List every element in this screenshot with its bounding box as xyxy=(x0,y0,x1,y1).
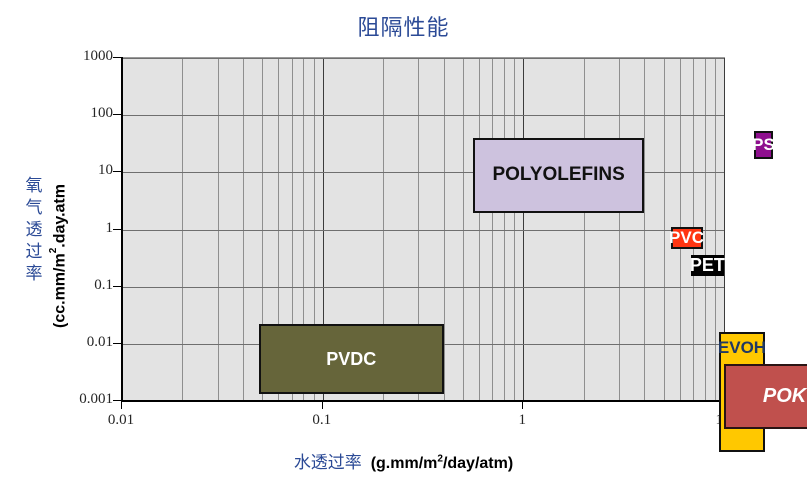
y-tick-mark xyxy=(113,343,122,344)
plot-area: PVDCPOLYOLEFINSPVCPETPSPA6EVOHPOK xyxy=(121,57,725,402)
y-tick-label: 1000 xyxy=(53,48,113,65)
data-box-pvdc: PVDC xyxy=(259,324,444,394)
gridline-horizontal xyxy=(122,58,724,59)
gridline-horizontal xyxy=(122,230,724,231)
data-box-ps: PS xyxy=(754,131,774,159)
data-box-label: PS xyxy=(752,135,775,155)
y-axis-title-char: 过 xyxy=(22,241,46,263)
x-axis-title-en-tail: /day/atm) xyxy=(443,455,513,472)
y-tick-mark xyxy=(113,114,122,115)
data-box-pet: PET xyxy=(691,255,725,276)
barrier-performance-chart: 阻隔性能 PVDCPOLYOLEFINSPVCPETPSPA6EVOHPOK 1… xyxy=(0,0,807,488)
x-axis-title-en-text: (g.mm/m xyxy=(371,455,438,472)
x-axis-title-cn: 水透过率 xyxy=(294,453,362,473)
data-box-label: PET xyxy=(690,255,725,276)
y-tick-mark xyxy=(113,229,122,230)
y-axis-title-en-text: (cc.mm/m xyxy=(51,253,68,328)
x-tick-label: 0.01 xyxy=(91,412,151,429)
data-box-label: EVOH xyxy=(718,338,766,358)
gridline-horizontal xyxy=(122,287,724,288)
y-tick-mark xyxy=(113,171,122,172)
data-box-label: PVC xyxy=(669,228,704,248)
x-axis-title: 水透过率 (g.mm/m2/day/atm) xyxy=(0,448,807,473)
y-axis-title-char: 气 xyxy=(22,197,46,219)
y-axis-title-en: (cc.mm/m2.day.atm xyxy=(48,118,70,328)
y-tick-mark xyxy=(113,286,122,287)
gridline-horizontal xyxy=(122,115,724,116)
y-axis-title-en-sup: 2 xyxy=(48,248,59,254)
y-tick-mark xyxy=(113,57,122,58)
data-box-pok: POK xyxy=(724,364,807,430)
x-tick-label: 0.1 xyxy=(292,412,352,429)
data-box-pvc: PVC xyxy=(671,227,703,249)
y-axis-title-char: 透 xyxy=(22,219,46,241)
y-axis-title-en-tail: .day.atm xyxy=(51,184,68,248)
x-tick-mark xyxy=(121,401,122,409)
x-tick-label: 1 xyxy=(492,412,552,429)
x-tick-mark xyxy=(522,401,523,409)
data-box-label: POK xyxy=(763,385,806,408)
x-tick-mark xyxy=(322,401,323,409)
data-box-label: PVDC xyxy=(326,349,376,370)
y-axis-title-char: 氧 xyxy=(22,175,46,197)
data-box-polyolefins: POLYOLEFINS xyxy=(473,138,644,214)
y-tick-label: 0.01 xyxy=(53,334,113,351)
y-tick-label: 0.001 xyxy=(53,391,113,408)
data-box-label: POLYOLEFINS xyxy=(492,164,624,186)
y-axis-title-char: 率 xyxy=(22,263,46,285)
chart-title: 阻隔性能 xyxy=(0,10,807,42)
y-axis-title-cn: 氧气透过率 xyxy=(22,175,46,285)
x-axis-line xyxy=(121,400,725,402)
